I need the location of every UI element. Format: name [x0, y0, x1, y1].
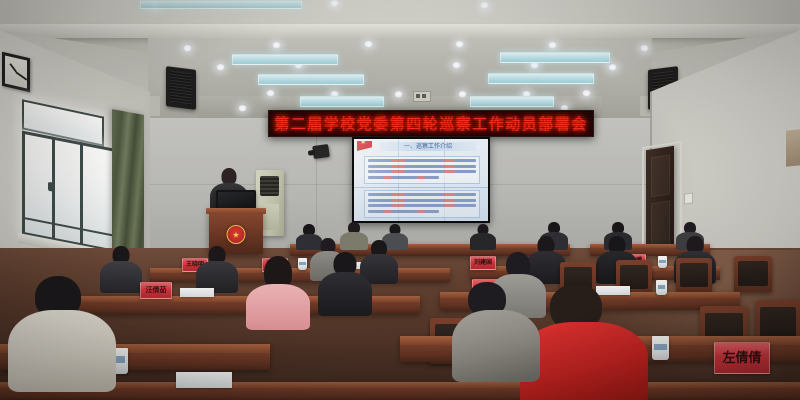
ceiling-downlight: [394, 91, 403, 98]
paper-cup: [652, 336, 669, 360]
ceiling-downlight: [183, 45, 192, 52]
attendee-row2-center: [452, 282, 540, 378]
paper-cup: [658, 256, 667, 268]
ceiling-access-plate: [413, 91, 431, 102]
ceiling-downlight: [608, 64, 617, 71]
podium-top: [206, 208, 266, 214]
light-switch[interactable]: [684, 192, 693, 204]
clock-minute-hand: [16, 71, 28, 80]
nameplate: 汪倩茹: [140, 282, 172, 299]
attendee-row3-left: [196, 246, 238, 290]
ceiling-speaker-left: [166, 66, 196, 110]
ceiling-beam: [0, 24, 800, 38]
attendee-row2-right: [318, 252, 372, 312]
ceiling-downlight: [480, 2, 489, 9]
ceiling-downlight: [238, 105, 247, 112]
wall-clock-icon: [2, 52, 30, 92]
attendee-front-left: [8, 276, 116, 388]
led-banner-text: 第二届学校党委第四轮巡察工作动员部署会: [274, 113, 588, 134]
ceiling-fluorescent-panel: [258, 74, 364, 85]
conference-room-photo: 第二届学校党委第四轮巡察工作动员部署会 一、巡察工作介绍: [0, 0, 800, 400]
nameplate-text: 汪倩茹: [146, 287, 167, 294]
curtain: [112, 109, 144, 265]
chair[interactable]: [676, 258, 712, 292]
nameplate-front-right: 左倩倩: [714, 342, 770, 374]
ceiling-downlight: [364, 41, 373, 48]
ceiling-fluorescent-panel: [140, 0, 302, 9]
national-emblem-icon: [227, 225, 246, 244]
document: [176, 372, 232, 388]
speaker-grill: [170, 71, 192, 106]
wall-mounted-camera-icon: [312, 144, 330, 159]
paper-cup: [656, 280, 667, 295]
attendee-back-right: [470, 224, 496, 248]
window-latch[interactable]: [48, 182, 53, 192]
nameplate-text: 左倩倩: [722, 352, 761, 365]
ceiling-upper-slab: [0, 0, 800, 26]
ceiling-downlight: [530, 62, 539, 69]
screen-glare: [354, 139, 488, 221]
wall-poster: [786, 129, 800, 166]
ceiling-downlight: [640, 45, 649, 52]
led-banner: 第二届学校党委第四轮巡察工作动员部署会: [268, 110, 594, 137]
ceiling-fluorescent-panel: [500, 52, 610, 63]
document: [180, 288, 214, 297]
ac-vent: [260, 176, 279, 196]
ceiling-downlight: [452, 62, 461, 69]
ceiling-downlight: [458, 91, 467, 98]
ceiling-downlight: [582, 90, 591, 97]
clock-face: [5, 55, 27, 88]
ceiling-fluorescent-panel: [470, 96, 554, 107]
projection-screen: 一、巡察工作介绍: [352, 137, 490, 223]
attendee-front-center: [246, 256, 310, 322]
ceiling-fluorescent-panel: [232, 54, 338, 65]
ceiling-downlight: [330, 0, 339, 7]
ceiling-fluorescent-panel: [488, 73, 594, 84]
ceiling-downlight: [272, 42, 281, 49]
slide-surface: 一、巡察工作介绍: [354, 139, 488, 221]
ceiling-fluorescent-panel: [300, 96, 384, 107]
window-main: [22, 131, 118, 254]
ceiling-downlight: [266, 90, 275, 97]
ceiling-downlight: [455, 41, 464, 48]
chair[interactable]: [734, 256, 772, 292]
ceiling-downlight: [548, 42, 557, 49]
wooden-door[interactable]: [646, 146, 674, 256]
desk-foreground: [0, 382, 800, 400]
ceiling-downlight: [216, 64, 225, 71]
